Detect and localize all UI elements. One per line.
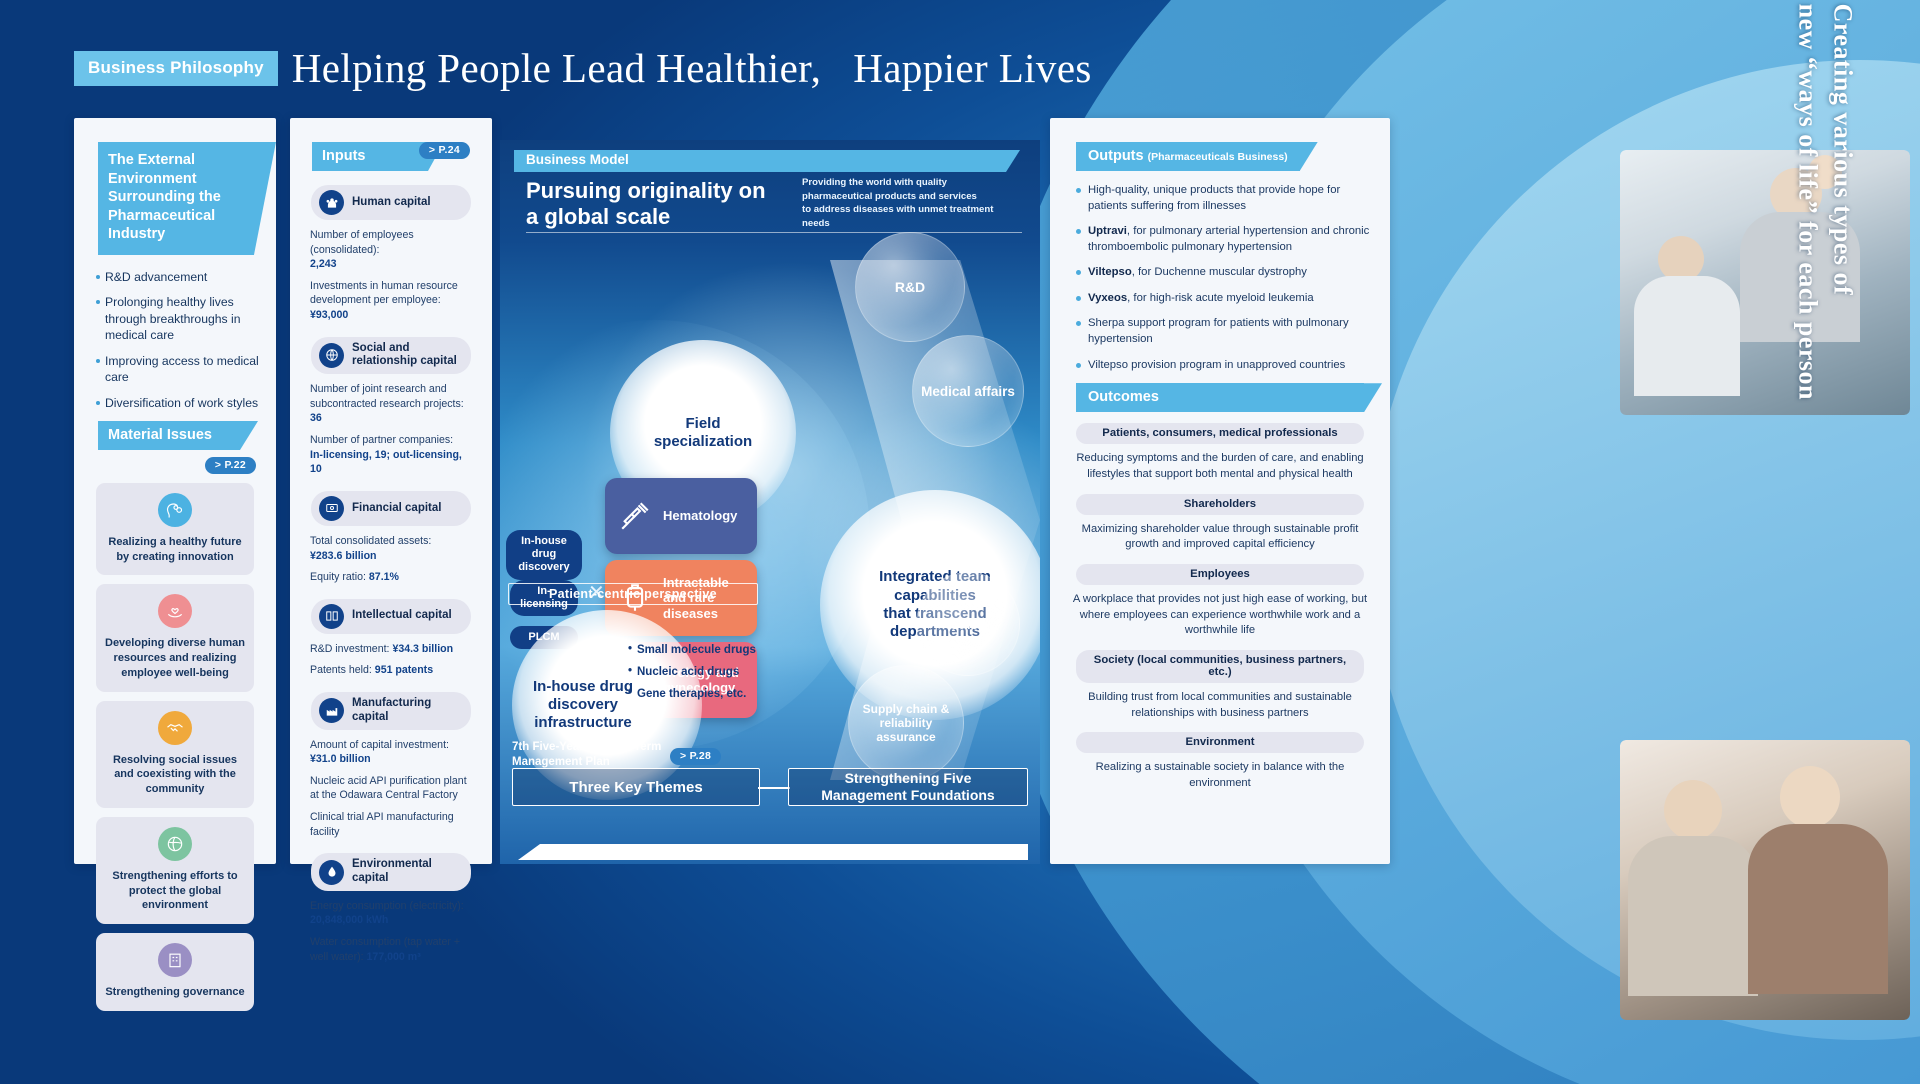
list-item: R&D advancement xyxy=(96,269,266,285)
capital-social: Social and relationship capital xyxy=(311,337,471,375)
business-model-panel: Business Model Pursuing originality on a… xyxy=(500,140,1040,864)
outcome-group-label-shareholders: Shareholders xyxy=(1076,494,1364,515)
chip-in-house-drug-discovery[interactable]: In-house drug discovery xyxy=(506,530,582,580)
business-model-ribbon-label: Business Model xyxy=(514,150,1020,167)
divider xyxy=(526,232,1022,233)
external-environment-heading: The External Environment Surrounding the… xyxy=(98,142,254,255)
material-issue-card-3: Resolving social issues and coexisting w… xyxy=(96,701,254,808)
brain-gear-icon xyxy=(158,493,192,527)
metric: Amount of capital investment:¥31.0 billi… xyxy=(310,738,472,767)
list-item: Prolonging healthy lives through breakth… xyxy=(96,294,266,343)
poster-canvas: Creating various types of new “ways of l… xyxy=(0,0,1920,1084)
people-icon xyxy=(319,190,344,215)
business-model-ribbon: Business Model xyxy=(514,150,1020,172)
outcomes-heading: Outcomes xyxy=(1076,383,1364,412)
droplet-icon xyxy=(319,860,344,885)
page-reference-link[interactable]: > P.28 xyxy=(670,748,721,765)
list-item: Vyxeos, for high-risk acute myeloid leuk… xyxy=(1076,291,1372,307)
material-issues-page-ref-row: > P.22 xyxy=(74,455,276,474)
list-item: Uptravi, for pulmonary arterial hyperten… xyxy=(1076,224,1372,255)
outputs-heading: Outputs (Pharmaceuticals Business) xyxy=(1076,142,1300,171)
capital-manufacturing-body: Amount of capital investment:¥31.0 billi… xyxy=(310,738,472,840)
building-icon xyxy=(158,943,192,977)
list-item: Viltepso provision program in unapproved… xyxy=(1076,358,1372,374)
metric: Patents held: 951 patents xyxy=(310,663,472,678)
tile-hematology[interactable]: Hematology xyxy=(605,478,757,554)
capital-social-body: Number of joint research and subcontract… xyxy=(310,382,472,477)
outcome-group-text-society: Building trust from local communities an… xyxy=(1070,690,1370,721)
capital-name: Human capital xyxy=(352,196,431,210)
material-issue-card-4: Strengthening efforts to protect the glo… xyxy=(96,817,254,924)
field-specialization-label: Field specialization xyxy=(654,415,752,452)
infrastructure-label: In-house drug discovery infrastructure xyxy=(533,678,633,733)
vertical-tagline: Creating various types of new “ways of l… xyxy=(1790,4,1860,400)
metric: Nucleic acid API purification plant at t… xyxy=(310,774,472,803)
capital-manufacturing: Manufacturing capital xyxy=(311,692,471,730)
vertical-tagline-line1: Creating various types of xyxy=(1825,4,1860,400)
material-issues-heading: Material Issues xyxy=(98,421,240,450)
material-issue-text: Strengthening governance xyxy=(104,985,246,1000)
ribbon-tail xyxy=(254,142,276,255)
metric: Total consolidated assets:¥283.6 billion xyxy=(310,534,472,563)
infrastructure-item-list: Small molecule drugs Nucleic acid drugs … xyxy=(628,644,758,710)
photo-family-top xyxy=(1620,150,1910,415)
outcome-group-text-employees: A workplace that provides not just high … xyxy=(1070,592,1370,639)
list-item: Nucleic acid drugs xyxy=(628,666,758,678)
capital-name: Social and relationship capital xyxy=(352,342,463,370)
money-icon xyxy=(319,496,344,521)
material-issue-text: Strengthening efforts to protect the glo… xyxy=(104,869,246,913)
list-item: Sherpa support program for patients with… xyxy=(1076,316,1372,347)
outcome-group-text-patients: Reducing symptoms and the burden of care… xyxy=(1070,451,1370,482)
capital-human: Human capital xyxy=(311,185,471,220)
outcome-group-label-employees: Employees xyxy=(1076,564,1364,585)
plan-label: 7th Five-Year Medium-Term Management Pla… xyxy=(512,740,661,769)
capital-financial: Financial capital xyxy=(311,491,471,526)
capital-intellectual: Intellectual capital xyxy=(311,599,471,634)
page-reference-link[interactable]: > P.22 xyxy=(205,457,256,474)
globe-icon xyxy=(319,343,344,368)
factory-icon xyxy=(319,698,344,723)
material-issue-text: Realizing a healthy future by creating i… xyxy=(104,535,246,564)
material-issue-card-1: Realizing a healthy future by creating i… xyxy=(96,483,254,575)
business-model-title: Pursuing originality on a global scale xyxy=(526,178,766,231)
capital-name: Intellectual capital xyxy=(352,609,452,623)
outcome-group-text-environment: Realizing a sustainable society in balan… xyxy=(1070,760,1370,791)
material-issue-text: Resolving social issues and coexisting w… xyxy=(104,753,246,797)
header-badge: Business Philosophy xyxy=(74,51,278,86)
photo-couple-bottom xyxy=(1620,740,1910,1020)
list-item: Gene therapies, etc. xyxy=(628,688,758,700)
external-environment-list: R&D advancement Prolonging healthy lives… xyxy=(96,269,266,411)
ribbon-tail xyxy=(240,421,258,450)
list-item: Small molecule drugs xyxy=(628,644,758,656)
handshake-icon xyxy=(158,711,192,745)
metric: Number of joint research and subcontract… xyxy=(310,382,472,426)
ribbon-tail xyxy=(1364,383,1382,412)
vertical-tagline-line2: new “ways of life” for each person xyxy=(1790,4,1825,400)
capital-intellectual-body: R&D investment: ¥34.3 billion Patents he… xyxy=(310,642,472,678)
outcome-group-text-shareholders: Maximizing shareholder value through sus… xyxy=(1070,522,1370,553)
node-supply-chain[interactable]: Supply chain & reliability assurance xyxy=(848,665,964,781)
book-icon xyxy=(319,604,344,629)
material-issue-text: Developing diverse human resources and r… xyxy=(104,636,246,680)
node-medical-affairs[interactable]: Medical affairs xyxy=(912,335,1024,447)
business-model-subtitle: Providing the world with quality pharmac… xyxy=(802,176,1022,230)
metric: Investments in human resource developmen… xyxy=(310,279,472,323)
header: Business Philosophy Helping People Lead … xyxy=(74,44,1092,92)
material-issue-card-5: Strengthening governance xyxy=(96,933,254,1011)
syringe-icon xyxy=(613,499,657,533)
metric: R&D investment: ¥34.3 billion xyxy=(310,642,472,657)
list-item: Diversification of work styles xyxy=(96,395,266,411)
node-sales[interactable]: Sales xyxy=(916,572,1020,676)
metric: Number of employees (consolidated):2,243 xyxy=(310,228,472,272)
outcome-group-label-environment: Environment xyxy=(1076,732,1364,753)
metric: Clinical trial API manufacturing facilit… xyxy=(310,810,472,839)
patient-centric-box: Patient-centric perspective xyxy=(508,583,758,605)
heart-hand-icon xyxy=(158,594,192,628)
ribbon-tail xyxy=(1300,142,1318,171)
page-reference-link[interactable]: > P.24 xyxy=(419,142,470,159)
button-five-management-foundations[interactable]: Strengthening Five Management Foundation… xyxy=(788,768,1028,806)
outputs-list: High-quality, unique products that provi… xyxy=(1076,183,1372,373)
bottom-wedge xyxy=(518,844,1028,860)
outcome-group-label-society: Society (local communities, business par… xyxy=(1076,650,1364,683)
capital-environmental-body: Energy consumption (electricity):20,848,… xyxy=(310,899,472,964)
tile-label: Hematology xyxy=(663,508,737,523)
capital-name: Manufacturing capital xyxy=(352,697,463,725)
capital-environmental: Environmental capital xyxy=(311,853,471,891)
metric: Water consumption (tap water + well wate… xyxy=(310,935,472,964)
material-issue-card-2: Developing diverse human resources and r… xyxy=(96,584,254,691)
external-environment-panel: The External Environment Surrounding the… xyxy=(74,118,276,864)
outputs-outcomes-panel: Outputs (Pharmaceuticals Business) High-… xyxy=(1050,118,1390,864)
page-title: Helping People Lead Healthier, Happier L… xyxy=(292,44,1092,92)
outcome-group-label-patients: Patients, consumers, medical professiona… xyxy=(1076,423,1364,444)
connector-line xyxy=(758,787,790,789)
list-item: Viltepso, for Duchenne muscular dystroph… xyxy=(1076,265,1372,281)
node-rnd[interactable]: R&D xyxy=(855,232,965,342)
button-three-key-themes[interactable]: Three Key Themes xyxy=(512,768,760,806)
inputs-panel: Inputs > P.24 Human capital Number of em… xyxy=(290,118,492,864)
list-item: High-quality, unique products that provi… xyxy=(1076,183,1372,214)
metric: Energy consumption (electricity):20,848,… xyxy=(310,899,472,928)
capital-name: Environmental capital xyxy=(352,858,463,886)
capital-name: Financial capital xyxy=(352,502,441,516)
capital-financial-body: Total consolidated assets:¥283.6 billion… xyxy=(310,534,472,585)
metric: Number of partner companies:In-licensing… xyxy=(310,433,472,477)
list-item: Improving access to medical care xyxy=(96,353,266,386)
metric: Equity ratio: 87.1% xyxy=(310,570,472,585)
leaf-globe-icon xyxy=(158,827,192,861)
capital-human-body: Number of employees (consolidated):2,243… xyxy=(310,228,472,323)
inputs-heading: Inputs xyxy=(312,142,428,171)
